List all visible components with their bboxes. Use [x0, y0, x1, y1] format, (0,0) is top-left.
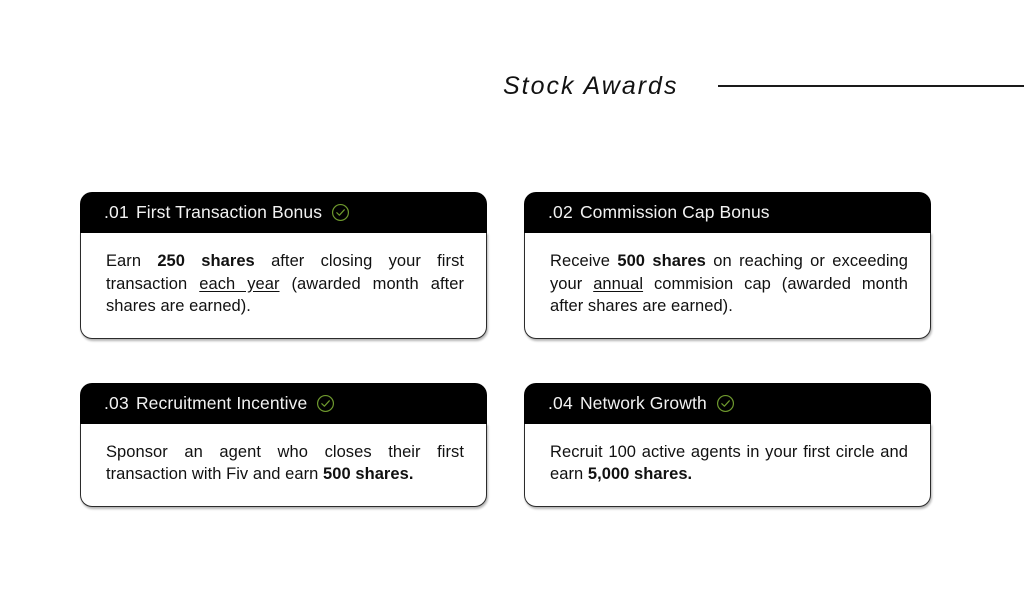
award-card-04-number: .04 [548, 393, 573, 414]
award-card-02-text: Receive 500 shares on reaching or exceed… [550, 250, 908, 318]
award-card-01-body: Earn 250 shares after closing your first… [80, 232, 487, 339]
check-circle-icon [316, 394, 335, 413]
card-row-bottom: .03 Recruitment Incentive Sponsor an age… [80, 383, 944, 507]
award-card-03-number: .03 [104, 393, 129, 414]
award-card-03-text: Sponsor an agent who closes their first … [106, 441, 464, 486]
stock-awards-card-grid: .01 First Transaction Bonus Earn 250 sha… [80, 192, 944, 507]
award-card-02[interactable]: .02 Commission Cap Bonus Receive 500 sha… [524, 192, 931, 339]
award-card-03-header: .03 Recruitment Incentive [80, 383, 487, 424]
award-card-04[interactable]: .04 Network Growth Recruit 100 active ag… [524, 383, 931, 507]
award-card-01[interactable]: .01 First Transaction Bonus Earn 250 sha… [80, 192, 487, 339]
award-card-01-text: Earn 250 shares after closing your first… [106, 250, 464, 318]
award-card-02-number: .02 [548, 202, 573, 223]
award-card-01-number: .01 [104, 202, 129, 223]
check-circle-icon [716, 394, 735, 413]
award-card-03-body: Sponsor an agent who closes their first … [80, 423, 487, 507]
award-card-04-header: .04 Network Growth [524, 383, 931, 424]
award-card-01-header: .01 First Transaction Bonus [80, 192, 487, 233]
card-row-top: .01 First Transaction Bonus Earn 250 sha… [80, 192, 944, 339]
award-card-04-text: Recruit 100 active agents in your first … [550, 441, 908, 486]
award-card-02-title: Commission Cap Bonus [580, 202, 770, 223]
page-title: Stock Awards [503, 62, 678, 110]
check-circle-icon [331, 203, 350, 222]
award-card-04-title: Network Growth [580, 393, 707, 414]
title-divider-line [718, 85, 1024, 87]
award-card-03[interactable]: .03 Recruitment Incentive Sponsor an age… [80, 383, 487, 507]
award-card-01-title: First Transaction Bonus [136, 202, 322, 223]
award-card-04-body: Recruit 100 active agents in your first … [524, 423, 931, 507]
award-card-03-title: Recruitment Incentive [136, 393, 307, 414]
award-card-02-header: .02 Commission Cap Bonus [524, 192, 931, 233]
award-card-02-body: Receive 500 shares on reaching or exceed… [524, 232, 931, 339]
